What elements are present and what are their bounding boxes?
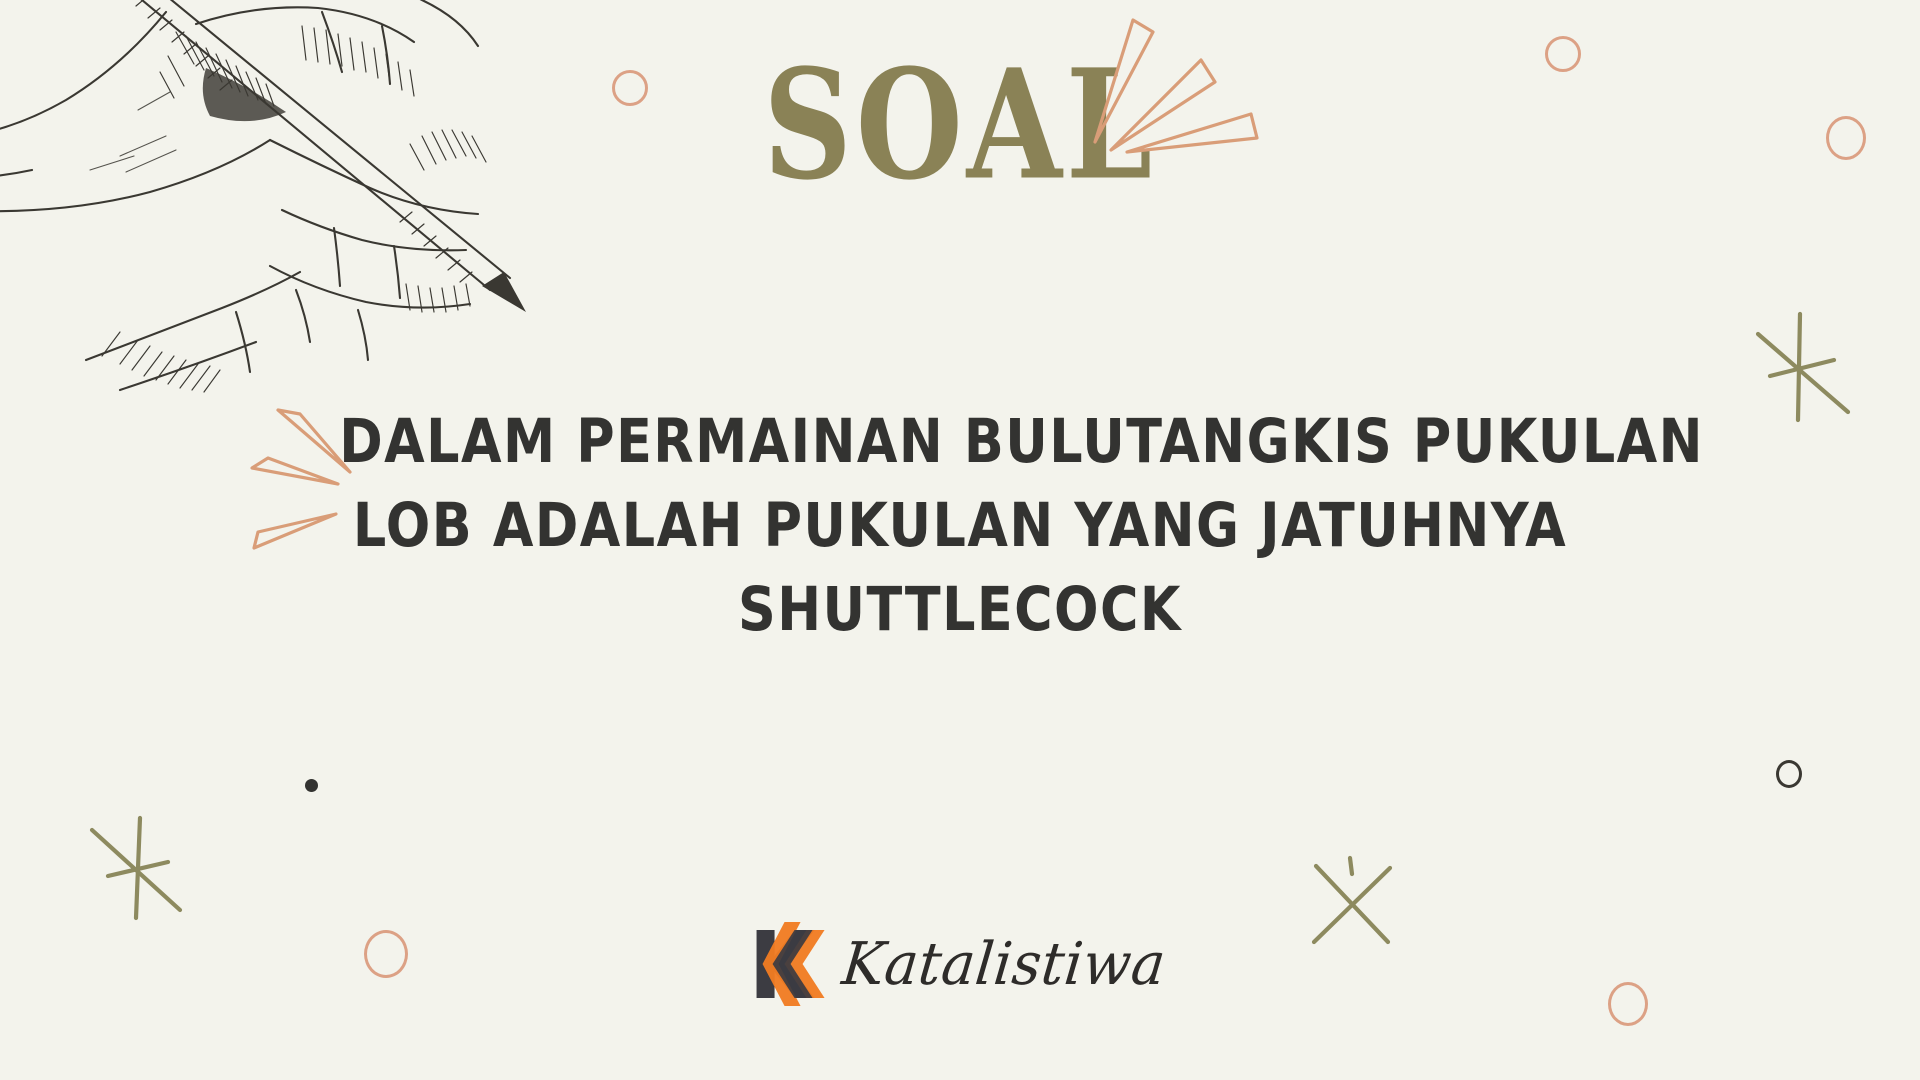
question-line-2: LOB ADALAH PUKULAN YANG JATUHNYA <box>339 479 1581 573</box>
ring-peach-bottom-right-icon <box>1608 982 1648 1026</box>
dot-dark-left-icon <box>305 779 318 792</box>
page-title: SOAL <box>764 50 1157 201</box>
star-olive-bottom-mid-icon <box>1300 852 1404 956</box>
slide-canvas: SOAL DALAM PERMAINAN BULUTANGKIS PUKULAN… <box>0 0 1920 1080</box>
star-olive-right-icon <box>1742 300 1862 430</box>
question-line-1: DALAM PERMAINAN BULUTANGKIS PUKULAN <box>339 395 1581 489</box>
brand-wordmark: Katalistiwa <box>839 930 1169 998</box>
star-olive-bottom-left-icon <box>62 792 190 928</box>
question-text-block: DALAM PERMAINAN BULUTANGKIS PUKULAN LOB … <box>320 400 1600 652</box>
ring-dark-mid-right-icon <box>1776 760 1802 788</box>
ring-peach-bottom-left-icon <box>364 930 408 978</box>
brand-logo: Katalistiwa <box>755 920 1166 1008</box>
katalistiwa-k-chevron-mark-icon <box>755 920 829 1008</box>
question-line-3: SHUTTLECOCK <box>339 563 1581 657</box>
title-block: SOAL <box>0 50 1920 178</box>
